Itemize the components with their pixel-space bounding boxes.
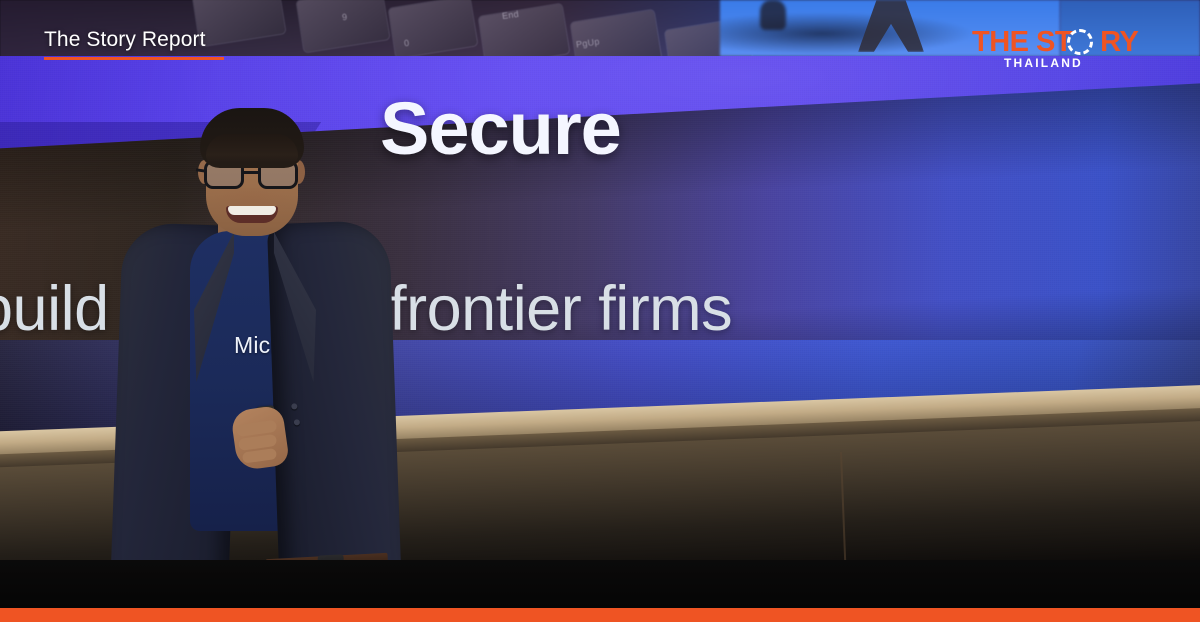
hair <box>200 108 304 168</box>
teeth <box>228 206 276 215</box>
top-silhouette-left <box>760 0 786 30</box>
logo-wordmark: THE STRY <box>972 26 1138 59</box>
keyboard-key <box>296 0 389 52</box>
keyboard-key <box>389 0 478 58</box>
speaker-figure: Micros <box>98 56 428 608</box>
page-title: The Story Report <box>44 28 206 52</box>
finger <box>242 448 277 464</box>
dashed-circle-o-icon <box>1067 29 1093 55</box>
eyeglass-bridge <box>244 171 260 174</box>
title-underline <box>44 57 224 60</box>
screenshot-root: 9 0 End PgUp Secure build nd’s next fron… <box>0 0 1200 622</box>
footer-black-bar <box>0 560 1200 608</box>
jacket-button <box>291 403 297 409</box>
jacket-button <box>294 419 300 425</box>
keyboard-key <box>192 0 285 46</box>
footer-orange-bar <box>0 608 1200 622</box>
logo-subtitle: THAILAND <box>1004 56 1083 70</box>
logo-word-part1: THE ST <box>972 26 1072 58</box>
the-story-thailand-logo[interactable]: THE STRY THAILAND <box>972 26 1162 78</box>
mouth <box>226 206 278 223</box>
logo-word-part2: RY <box>1100 26 1138 58</box>
